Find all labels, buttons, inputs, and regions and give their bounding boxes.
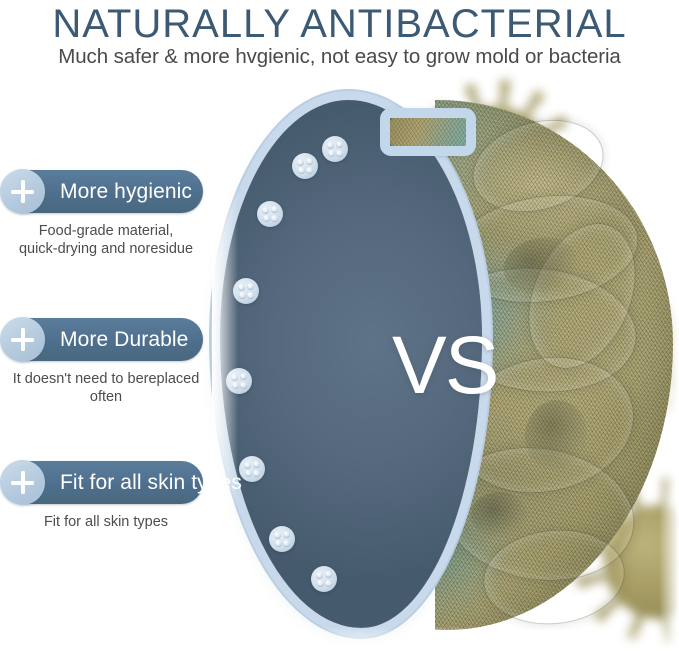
feature-badge-friendly[interactable]: Fit for all skin types (6, 461, 203, 504)
scrubber-handle (380, 108, 476, 156)
feature-badge-durable[interactable]: More Durable (6, 318, 203, 361)
plus-icon (0, 460, 45, 505)
scrubber-nub (311, 566, 337, 592)
feature-description: It doesn't need to bereplaced often (0, 370, 212, 406)
feature-item-durable: More Durable It doesn't need to bereplac… (0, 318, 212, 406)
feature-list: More hygienic Food-grade material, quick… (0, 0, 215, 660)
feature-item-hygienic: More hygienic Food-grade material, quick… (0, 170, 212, 258)
product-comparison-image: VS (212, 82, 679, 660)
scrubber-nub (269, 526, 295, 552)
feature-description: Fit for all skin types (0, 513, 212, 531)
silicone-body-scrubber (220, 100, 482, 628)
scrubber-nub (257, 201, 283, 227)
feature-badge-label: More hygienic (60, 170, 192, 213)
plus-icon (0, 169, 45, 214)
feature-badge-label: More Durable (60, 318, 188, 361)
feature-badge-hygienic[interactable]: More hygienic (6, 170, 203, 213)
feature-description: Food-grade material, quick-drying and no… (0, 222, 212, 258)
feature-item-friendly: Fit for all skin types Fit for all skin … (0, 461, 212, 531)
plus-icon (0, 317, 45, 362)
scrubber-nub (239, 456, 265, 482)
feature-badge-label: Fit for all skin types (60, 461, 242, 504)
